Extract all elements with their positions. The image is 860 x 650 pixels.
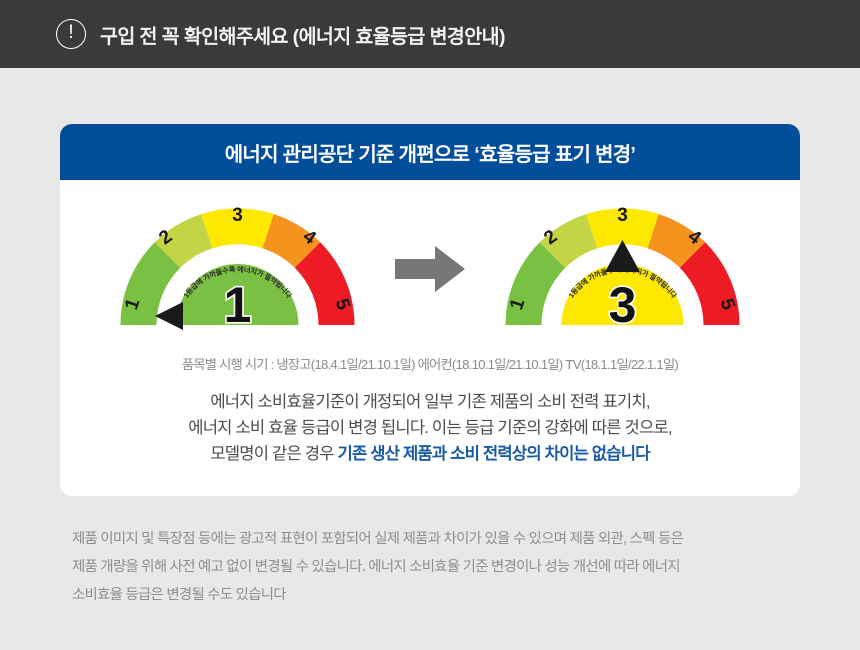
disclaimer-line-1: 제품 이미지 및 특장점 등에는 광고적 표현이 포함되어 실제 제품과 차이가…: [72, 525, 792, 553]
before-gauge: 1 2 3 4 5 1등급에 가까울수록 에너지가 절약됩니다 1: [105, 194, 370, 344]
energy-grade-card: 에너지 관리공단 기준 개편으로 ‘효율등급 표기 변경’ 1 2: [60, 124, 800, 496]
disclaimer-line-2: 제품 개량을 위해 사전 예고 없이 변경될 수 있습니다. 에너지 소비효율 …: [72, 553, 792, 581]
notice-header-bar: ! 구입 전 꼭 확인해주세요 (에너지 효율등급 변경안내): [0, 0, 860, 68]
gauge-grade-value: 1: [224, 277, 252, 333]
disclaimer-line-3: 소비효율 등급은 변경될 수도 있습니다: [72, 581, 792, 609]
card-header: 에너지 관리공단 기준 개편으로 ‘효율등급 표기 변경’: [60, 124, 800, 180]
description-block: 에너지 소비효율기준이 개정되어 일부 기존 제품의 소비 전력 표기치, 에너…: [60, 389, 800, 467]
after-gauge: 1 2 3 4 5 1등급에 가까울수록 에너지가 절약됩니다 3: [490, 194, 755, 344]
description-line-2: 에너지 소비 효율 등급이 변경 됩니다. 이는 등급 기준의 강화에 따른 것…: [60, 415, 800, 441]
gauge-pointer-icon: [155, 302, 183, 330]
gauge-segment-label-3: 3: [232, 205, 243, 226]
page-title: 구입 전 꼭 확인해주세요 (에너지 효율등급 변경안내): [100, 20, 505, 49]
gauge-comparison: 1 2 3 4 5 1등급에 가까울수록 에너지가 절약됩니다 1: [60, 194, 800, 344]
description-highlight: 기존 생산 제품과 소비 전력상의 차이는 없습니다: [337, 444, 649, 463]
right-arrow-icon: [395, 246, 465, 292]
description-line-3: 모델명이 같은 경우 기존 생산 제품과 소비 전력상의 차이는 없습니다: [60, 441, 800, 467]
gauge-grade-value: 3: [609, 277, 637, 333]
description-line-3-normal: 모델명이 같은 경우: [210, 444, 337, 463]
exclamation-circle-icon: !: [56, 19, 86, 49]
description-line-1: 에너지 소비효율기준이 개정되어 일부 기존 제품의 소비 전력 표기치,: [60, 389, 800, 415]
transition-arrow: [390, 241, 470, 297]
disclaimer-text: 제품 이미지 및 특장점 등에는 광고적 표현이 포함되어 실제 제품과 차이가…: [72, 525, 792, 609]
gauge-segment-label-3: 3: [617, 205, 628, 226]
schedule-note: 품목별 시행 시기 : 냉장고(18.4.1일/21.10.1일) 에어컨(18…: [60, 354, 800, 373]
card-header-title: 에너지 관리공단 기준 개편으로 ‘효율등급 표기 변경’: [225, 138, 636, 167]
